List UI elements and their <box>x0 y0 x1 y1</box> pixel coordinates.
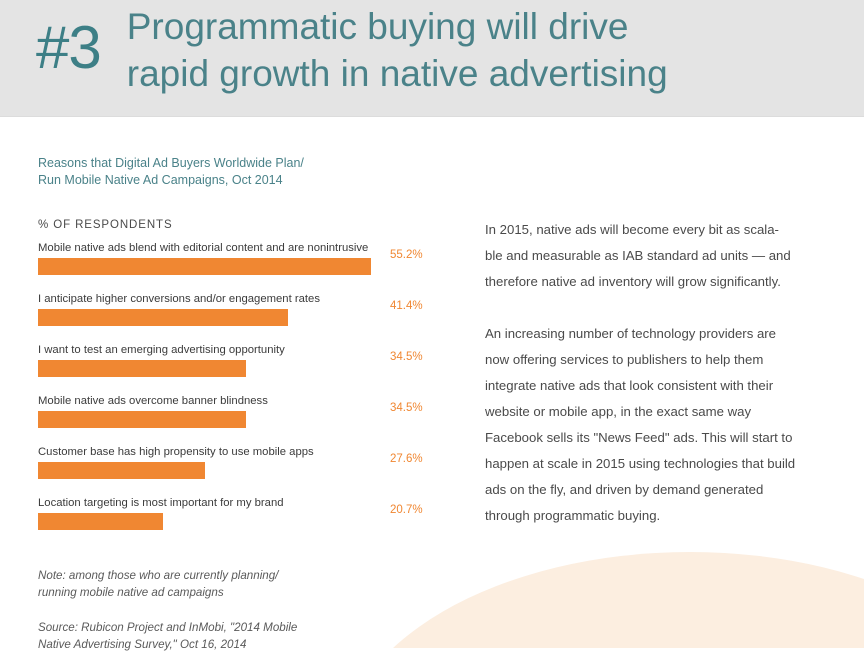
bar-row: Mobile native ads blend with editorial c… <box>38 241 458 292</box>
bar-track: 41.4% <box>38 309 458 329</box>
bar-row: I anticipate higher conversions and/or e… <box>38 292 458 343</box>
bar-track: 34.5% <box>38 360 458 380</box>
chart-title-line-1: Reasons that Digital Ad Buyers Worldwide… <box>38 155 458 172</box>
body-paragraph-1: In 2015, native ads will become every bi… <box>485 217 835 295</box>
slide-body: Reasons that Digital Ad Buyers Worldwide… <box>0 117 864 648</box>
bar-value-label: 34.5% <box>390 351 423 363</box>
chart-axis-label: % OF RESPONDENTS <box>38 219 458 231</box>
chart-title-line-2: Run Mobile Native Ad Campaigns, Oct 2014 <box>38 172 458 189</box>
bar-fill <box>38 258 371 275</box>
bar-row: Mobile native ads overcome banner blindn… <box>38 394 458 445</box>
paragraph-2-line-5: Facebook sells its "News Feed" ads. This… <box>485 425 835 451</box>
source-line-1: Source: Rubicon Project and InMobi, "201… <box>38 619 458 636</box>
bar-fill <box>38 462 205 479</box>
bar-row: Customer base has high propensity to use… <box>38 445 458 496</box>
page-title-line-2: rapid growth in native advertising <box>127 50 668 97</box>
bar-fill <box>38 360 246 377</box>
paragraph-2-line-3: integrate native ads that look consisten… <box>485 373 835 399</box>
paragraph-2-line-8: through programmatic buying. <box>485 503 835 529</box>
bar-track: 27.6% <box>38 462 458 482</box>
bar-value-label: 34.5% <box>390 402 423 414</box>
note-text: Note: among those who are currently plan… <box>38 567 458 601</box>
paragraph-2-line-7: ads on the fly, and driven by demand gen… <box>485 477 835 503</box>
bar-row: I want to test an emerging advertising o… <box>38 343 458 394</box>
bar-track: 20.7% <box>38 513 458 533</box>
note-line-2: running mobile native ad campaigns <box>38 584 458 601</box>
paragraph-1-line-1: In 2015, native ads will become every bi… <box>485 217 835 243</box>
paragraph-2-line-6: happen at scale in 2015 using technologi… <box>485 451 835 477</box>
bar-value-label: 41.4% <box>390 300 423 312</box>
bar-fill <box>38 513 163 530</box>
source-line-2: Native Advertising Survey," Oct 16, 2014 <box>38 636 458 653</box>
paragraph-2-line-2: now offering services to publishers to h… <box>485 347 835 373</box>
chart-footnotes: Note: among those who are currently plan… <box>38 567 458 653</box>
paragraph-1-line-2: ble and measurable as IAB standard ad un… <box>485 243 835 269</box>
chart-title: Reasons that Digital Ad Buyers Worldwide… <box>38 155 458 189</box>
slide-header: #3 Programmatic buying will drive rapid … <box>0 0 864 117</box>
bar-chart: Mobile native ads blend with editorial c… <box>38 241 458 547</box>
bar-value-label: 55.2% <box>390 249 423 261</box>
note-line-1: Note: among those who are currently plan… <box>38 567 458 584</box>
page-title: Programmatic buying will drive rapid gro… <box>127 3 668 97</box>
bar-value-label: 27.6% <box>390 453 423 465</box>
body-paragraph-2: An increasing number of technology provi… <box>485 321 835 529</box>
bar-fill <box>38 411 246 428</box>
rank-number: #3 <box>36 18 101 78</box>
page-title-line-1: Programmatic buying will drive <box>127 3 668 50</box>
bar-value-label: 20.7% <box>390 504 423 516</box>
bar-row: Location targeting is most important for… <box>38 496 458 547</box>
chart-panel: Reasons that Digital Ad Buyers Worldwide… <box>38 155 458 671</box>
bar-fill <box>38 309 288 326</box>
body-copy-panel: In 2015, native ads will become every bi… <box>485 217 835 555</box>
paragraph-2-line-1: An increasing number of technology provi… <box>485 321 835 347</box>
bar-track: 34.5% <box>38 411 458 431</box>
paragraph-2-line-4: website or mobile app, in the exact same… <box>485 399 835 425</box>
paragraph-1-line-3: therefore native ad inventory will grow … <box>485 269 835 295</box>
bar-track: 55.2% <box>38 258 458 278</box>
